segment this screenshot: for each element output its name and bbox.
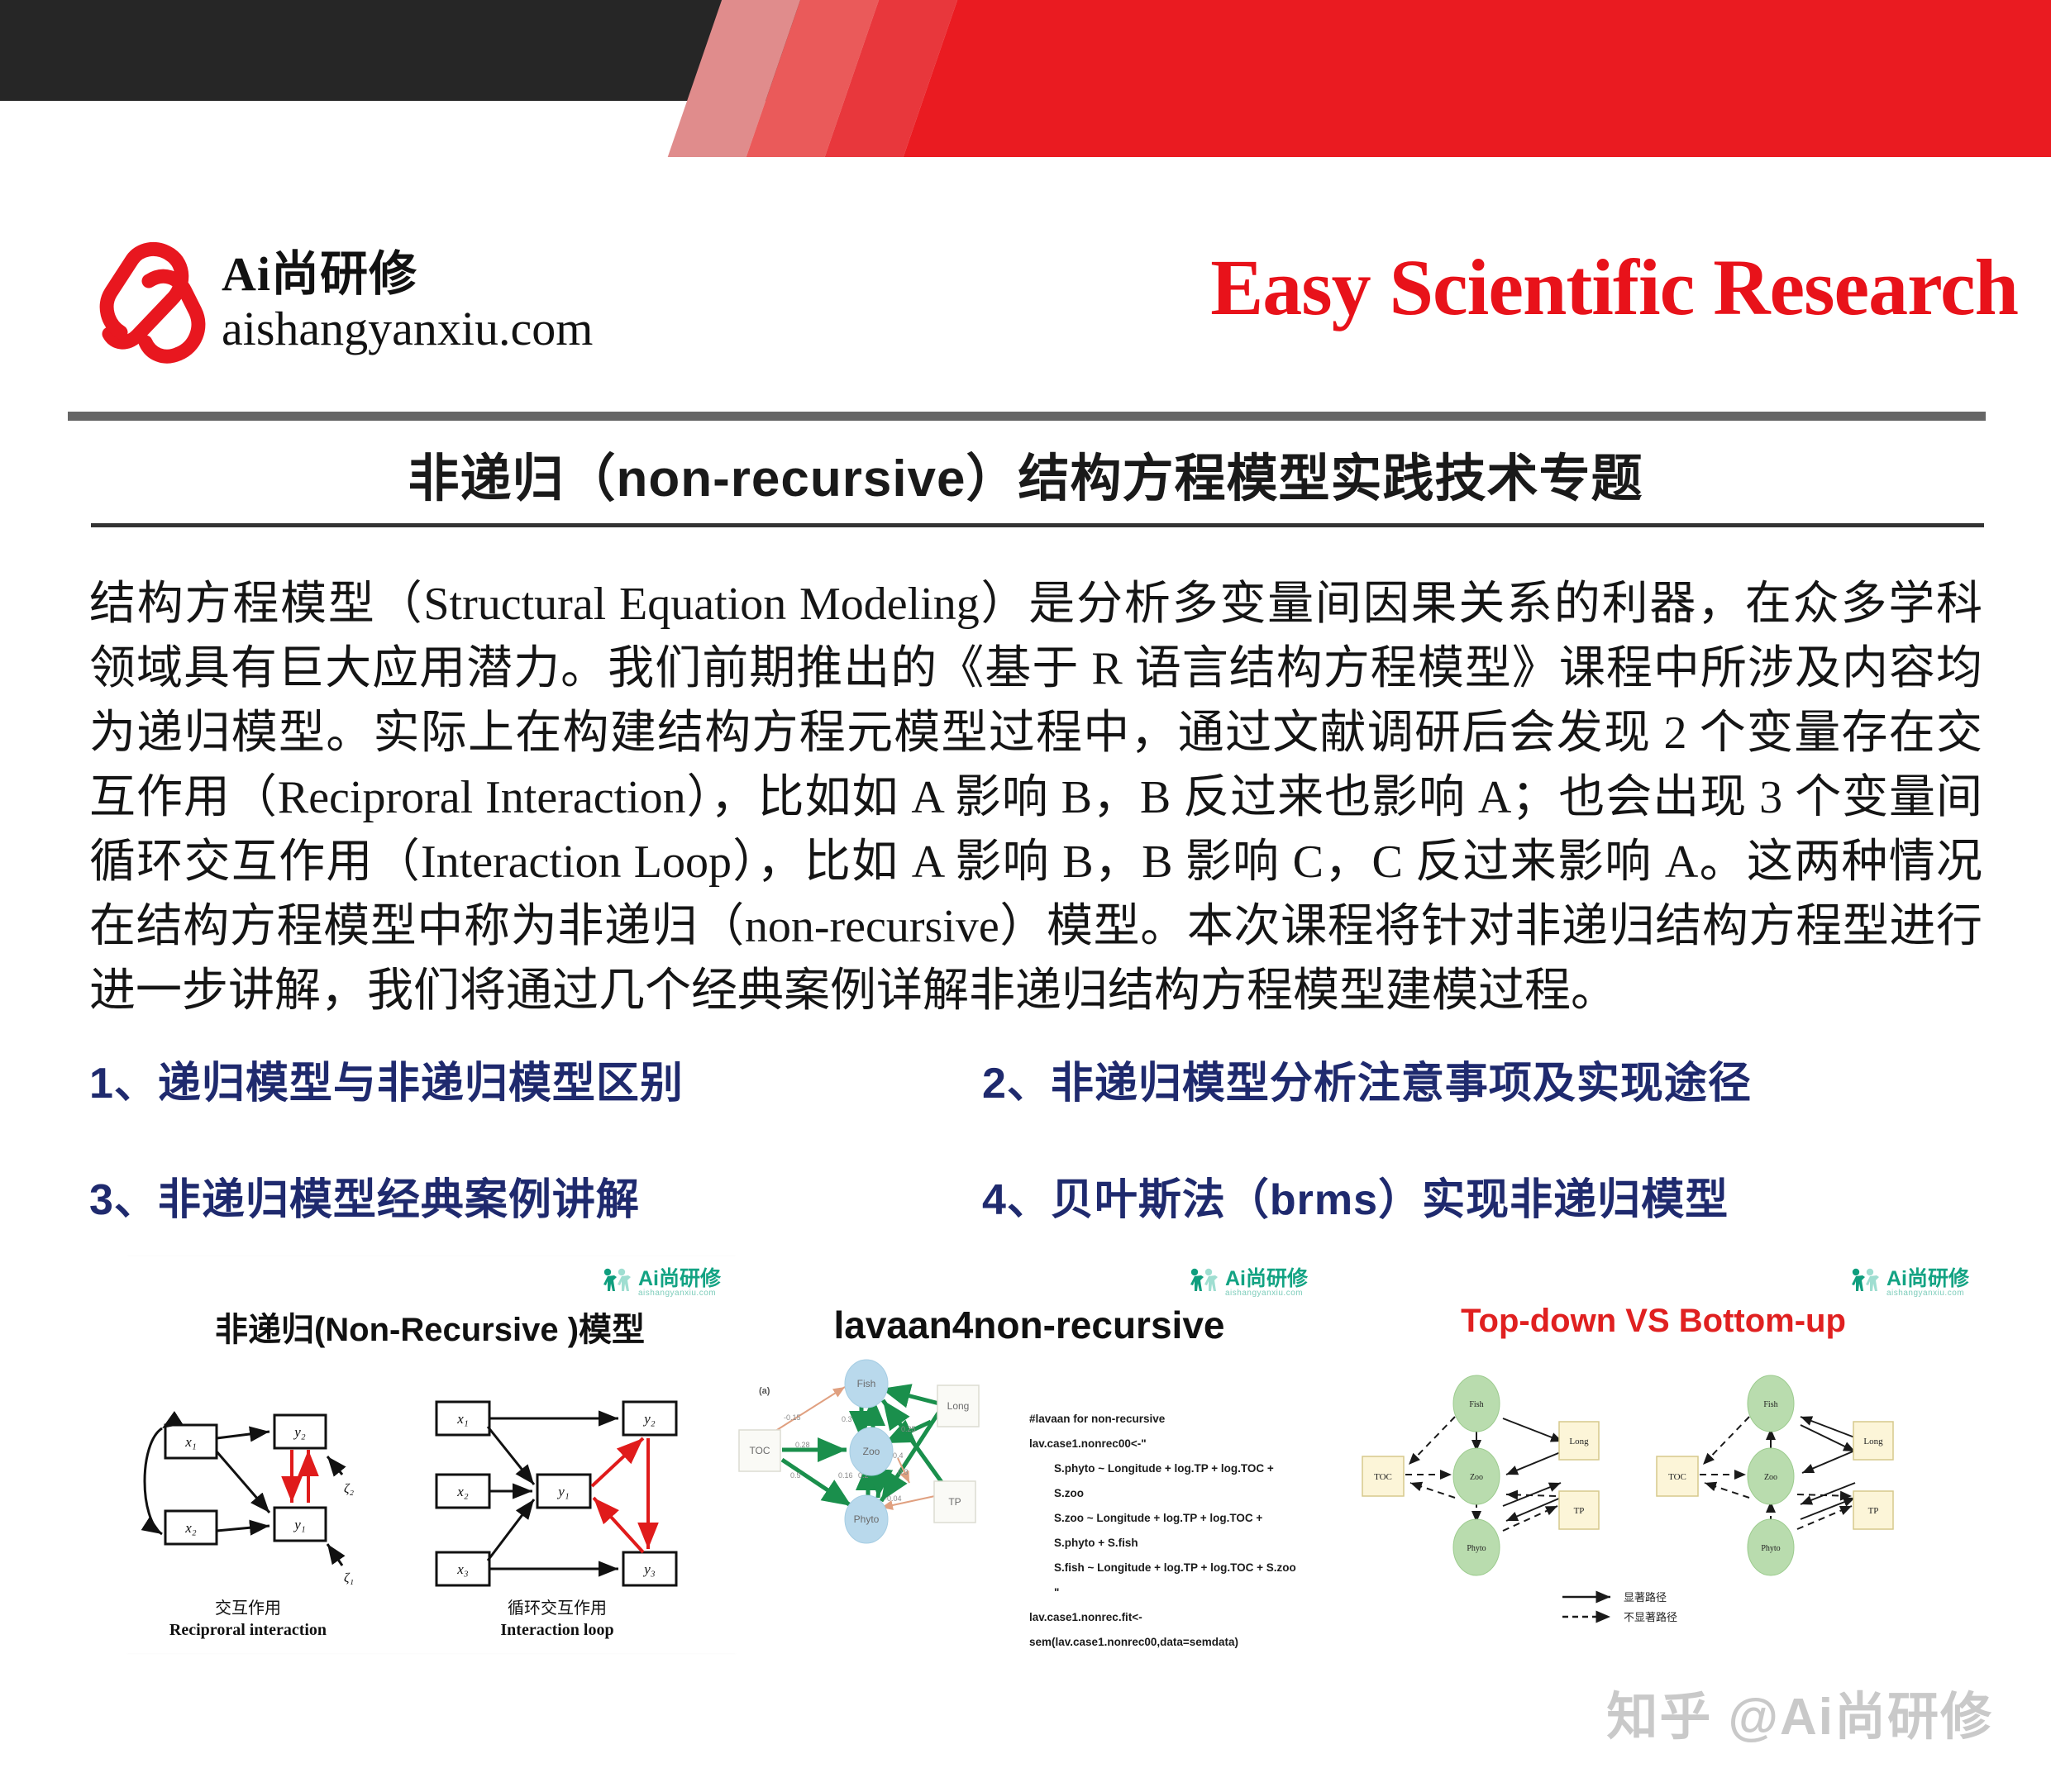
watermark-brand-cn: Ai尚研修 [1225, 1269, 1308, 1289]
node-label: Phyto [1761, 1544, 1780, 1553]
node-label: x₁ [456, 1411, 468, 1427]
watermark-logo: Ai尚研修 aishangyanxiu.com [599, 1266, 721, 1299]
path-coefficient: -0.15 [784, 1413, 801, 1422]
code-line: S.zoo ~ Longitude + log.TP + log.TOC + S… [1029, 1506, 1302, 1556]
node-label: y₁ [293, 1517, 305, 1532]
zhihu-watermark: 知乎 @Ai尚研修 [1606, 1675, 1993, 1749]
node-label: Long [1863, 1437, 1883, 1446]
path-coefficient: 0.3 [898, 1468, 909, 1476]
caption-cn-left: 交互作用 [215, 1599, 281, 1618]
caption-en-right: Interaction loop [500, 1621, 613, 1639]
legend-label-significant: 显著路径 [1624, 1591, 1667, 1604]
node-label: Zoo [1470, 1473, 1483, 1482]
node-label: Zoo [863, 1446, 880, 1457]
topic-item-1[interactable]: 1、递归模型与非递归模型区别 [89, 1048, 982, 1110]
path-coefficient: 0.25 [901, 1425, 916, 1433]
lavaan-code-block: #lavaan for non-recursive lav.case1.nonr… [1029, 1407, 1302, 1655]
node-label: x₂ [184, 1520, 197, 1536]
node-label: y₂ [293, 1424, 306, 1440]
topic-item-3[interactable]: 3、非递归模型经典案例讲解 [89, 1165, 982, 1227]
page-header: Ai尚研修 aishangyanxiu.com Easy Scientific … [0, 207, 2051, 405]
red-stripe-4 [898, 0, 2051, 157]
node-label: y₂ [642, 1411, 656, 1427]
node-label: Phyto [1467, 1544, 1486, 1553]
panel-title-3: Top-down VS Bottom-up [1323, 1303, 1984, 1340]
watermark-brand-url: aishangyanxiu.com [1225, 1289, 1308, 1298]
watermark-logo: Ai尚研修 aishangyanxiu.com [1185, 1266, 1308, 1299]
topic-item-4[interactable]: 4、贝叶斯法（brms）实现非递归模型 [982, 1165, 1974, 1227]
walking-people-icon [599, 1266, 633, 1299]
topic-item-2[interactable]: 2、非递归模型分析注意事项及实现途径 [982, 1048, 1974, 1110]
topdown-bottomup-diagram: TOC Long TP Fish Zoo Phyto [1323, 1336, 1984, 1642]
brand-logo-block: Ai尚研修 aishangyanxiu.com [99, 231, 593, 372]
intro-paragraph: 结构方程模型（Structural Equation Modeling）是分析多… [89, 572, 1982, 1023]
code-line: #lavaan for non-recursive [1029, 1413, 1165, 1425]
node-label: TOC [1668, 1472, 1686, 1482]
path-coefficient: 0.16 [838, 1471, 853, 1480]
code-line: S.fish ~ Longitude + log.TP + log.TOC + … [1029, 1556, 1302, 1580]
error-term: ζ₂ [344, 1482, 354, 1496]
figure-panel-non-recursive-model[interactable]: Ai尚研修 aishangyanxiu.com 非递归(Non-Recursiv… [124, 1256, 736, 1653]
path-coefficient: 0.5 [790, 1471, 801, 1480]
node-label: x₃ [456, 1561, 469, 1577]
path-coefficient: 0.3 [842, 1415, 852, 1423]
watermark-brand-url: aishangyanxiu.com [638, 1289, 721, 1298]
node-label: y₁ [556, 1484, 569, 1499]
paperclip-logo-icon [99, 231, 207, 372]
title-divider-thin [91, 523, 1984, 527]
node-label: TP [948, 1496, 961, 1508]
topic-list: 1、递归模型与非递归模型区别 2、非递归模型分析注意事项及实现途径 3、非递归模… [89, 1048, 1982, 1281]
node-label: TP [1868, 1506, 1879, 1516]
node-label: Zoo [1764, 1473, 1777, 1482]
figure-panel-topdown-bottomup[interactable]: Ai尚研修 aishangyanxiu.com Top-down VS Bott… [1323, 1256, 1984, 1653]
brand-url: aishangyanxiu.com [222, 305, 593, 353]
node-label: x₁ [184, 1434, 196, 1450]
legend-label-not-significant: 不显著路径 [1624, 1611, 1677, 1623]
figure-strip: Ai尚研修 aishangyanxiu.com 非递归(Non-Recursiv… [0, 1256, 2051, 1661]
brand-title-en: Easy Scientific Research [1210, 241, 2018, 333]
brand-name-cn: Ai尚研修 [222, 250, 593, 298]
node-label: TOC [1374, 1472, 1392, 1482]
topic-row: 1、递归模型与非递归模型区别 2、非递归模型分析注意事项及实现途径 [89, 1048, 1982, 1110]
node-label: TOC [749, 1445, 770, 1456]
subpanel-label: (a) [759, 1386, 770, 1396]
path-coefficient: 0.28 [795, 1441, 810, 1449]
code-line: S.phyto ~ Longitude + log.TP + log.TOC +… [1029, 1456, 1302, 1506]
figure-panel-lavaan[interactable]: Ai尚研修 aishangyanxiu.com lavaan4non-recur… [736, 1256, 1323, 1653]
error-term: ζ₁ [344, 1571, 354, 1585]
node-label: Fish [1763, 1400, 1777, 1409]
node-label: TP [1574, 1506, 1585, 1516]
non-recursive-diagram: x₁ x₂ y₂ y₁ ζ₂ ζ₁ [124, 1336, 736, 1642]
watermark-brand-url: aishangyanxiu.com [1886, 1289, 1969, 1298]
code-line: " [1029, 1580, 1302, 1605]
header-divider-thick [68, 412, 1986, 421]
walking-people-icon [1847, 1266, 1882, 1299]
node-label: Long [1569, 1437, 1589, 1446]
watermark-brand-cn: Ai尚研修 [638, 1269, 721, 1289]
code-line: lav.case1.nonrec00<-" [1029, 1437, 1147, 1450]
caption-cn-right: 循环交互作用 [508, 1599, 607, 1618]
path-coefficient: 0.4 [893, 1451, 904, 1460]
caption-en-left: Reciproral interaction [169, 1621, 327, 1639]
walking-people-icon [1185, 1266, 1220, 1299]
watermark-brand-cn: Ai尚研修 [1886, 1269, 1969, 1289]
node-label: Phyto [854, 1513, 880, 1525]
code-line: lav.case1.nonrec.fit<-sem(lav.case1.nonr… [1029, 1611, 1238, 1648]
top-decoration-banner [0, 0, 2051, 157]
node-label: Long [947, 1400, 970, 1412]
path-coefficient: -0.04 [885, 1494, 902, 1503]
topic-row: 3、非递归模型经典案例讲解 4、贝叶斯法（brms）实现非递归模型 [89, 1165, 1982, 1227]
node-label: Fish [857, 1378, 876, 1389]
node-label: Fish [1469, 1400, 1483, 1409]
node-label: y₃ [642, 1561, 656, 1577]
watermark-logo: Ai尚研修 aishangyanxiu.com [1847, 1266, 1969, 1299]
node-label: x₂ [456, 1484, 469, 1499]
page-title: 非递归（non-recursive）结构方程模型实践技术专题 [0, 436, 2051, 511]
